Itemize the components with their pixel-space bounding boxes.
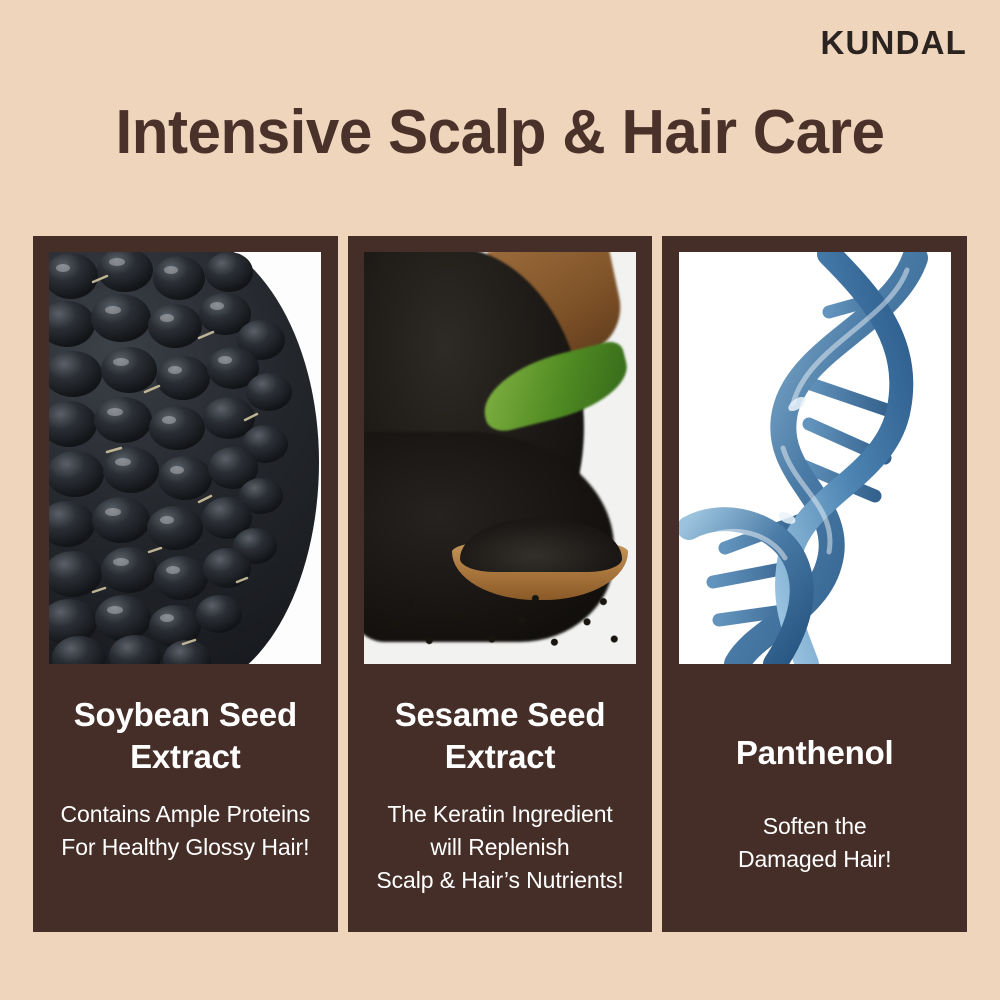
title-line: Sesame Seed [354, 694, 647, 736]
card-description-panthenol: Soften the Damaged Hair! [668, 810, 961, 875]
desc-line: Damaged Hair! [668, 843, 961, 876]
card-text-soybean: Soybean Seed Extract Contains Ample Prot… [33, 664, 338, 864]
black-sesame-seeds-with-spoon-photo [364, 252, 636, 664]
brand-logo: KUNDAL [820, 26, 967, 59]
dna-double-helix-photo [679, 252, 951, 664]
ingredient-card-panthenol: Panthenol Soften the Damaged Hair! [662, 236, 967, 932]
photo-sesame [364, 252, 636, 664]
ingredient-card-row: Soybean Seed Extract Contains Ample Prot… [33, 236, 967, 932]
desc-line: Scalp & Hair’s Nutrients! [354, 864, 647, 897]
title-line: Soybean Seed [39, 694, 332, 736]
title-line: Panthenol [668, 732, 961, 774]
card-description-sesame: The Keratin Ingredient will Replenish Sc… [354, 798, 647, 896]
page-title: Intensive Scalp & Hair Care [15, 100, 985, 165]
dna-helix-graphic [679, 252, 951, 664]
scattered-sesame-seeds [364, 586, 636, 664]
soybean-detail-layer [49, 252, 321, 664]
title-line: Extract [354, 736, 647, 778]
card-title-panthenol: Panthenol [668, 732, 961, 774]
desc-line: Contains Ample Proteins [39, 798, 332, 831]
card-title-soybean: Soybean Seed Extract [39, 694, 332, 778]
desc-line: will Replenish [354, 831, 647, 864]
desc-line: For Healthy Glossy Hair! [39, 831, 332, 864]
card-description-soybean: Contains Ample Proteins For Healthy Glos… [39, 798, 332, 863]
ingredient-card-soybean: Soybean Seed Extract Contains Ample Prot… [33, 236, 338, 932]
photo-dna [679, 252, 951, 664]
photo-soybeans [49, 252, 321, 664]
soybeans-in-wooden-bowl-photo [49, 252, 321, 664]
card-text-panthenol: Panthenol Soften the Damaged Hair! [662, 664, 967, 876]
card-text-sesame: Sesame Seed Extract The Keratin Ingredie… [348, 664, 653, 896]
card-title-sesame: Sesame Seed Extract [354, 694, 647, 778]
ingredient-card-sesame: Sesame Seed Extract The Keratin Ingredie… [348, 236, 653, 932]
desc-line: Soften the [668, 810, 961, 843]
title-line: Extract [39, 736, 332, 778]
desc-line: The Keratin Ingredient [354, 798, 647, 831]
